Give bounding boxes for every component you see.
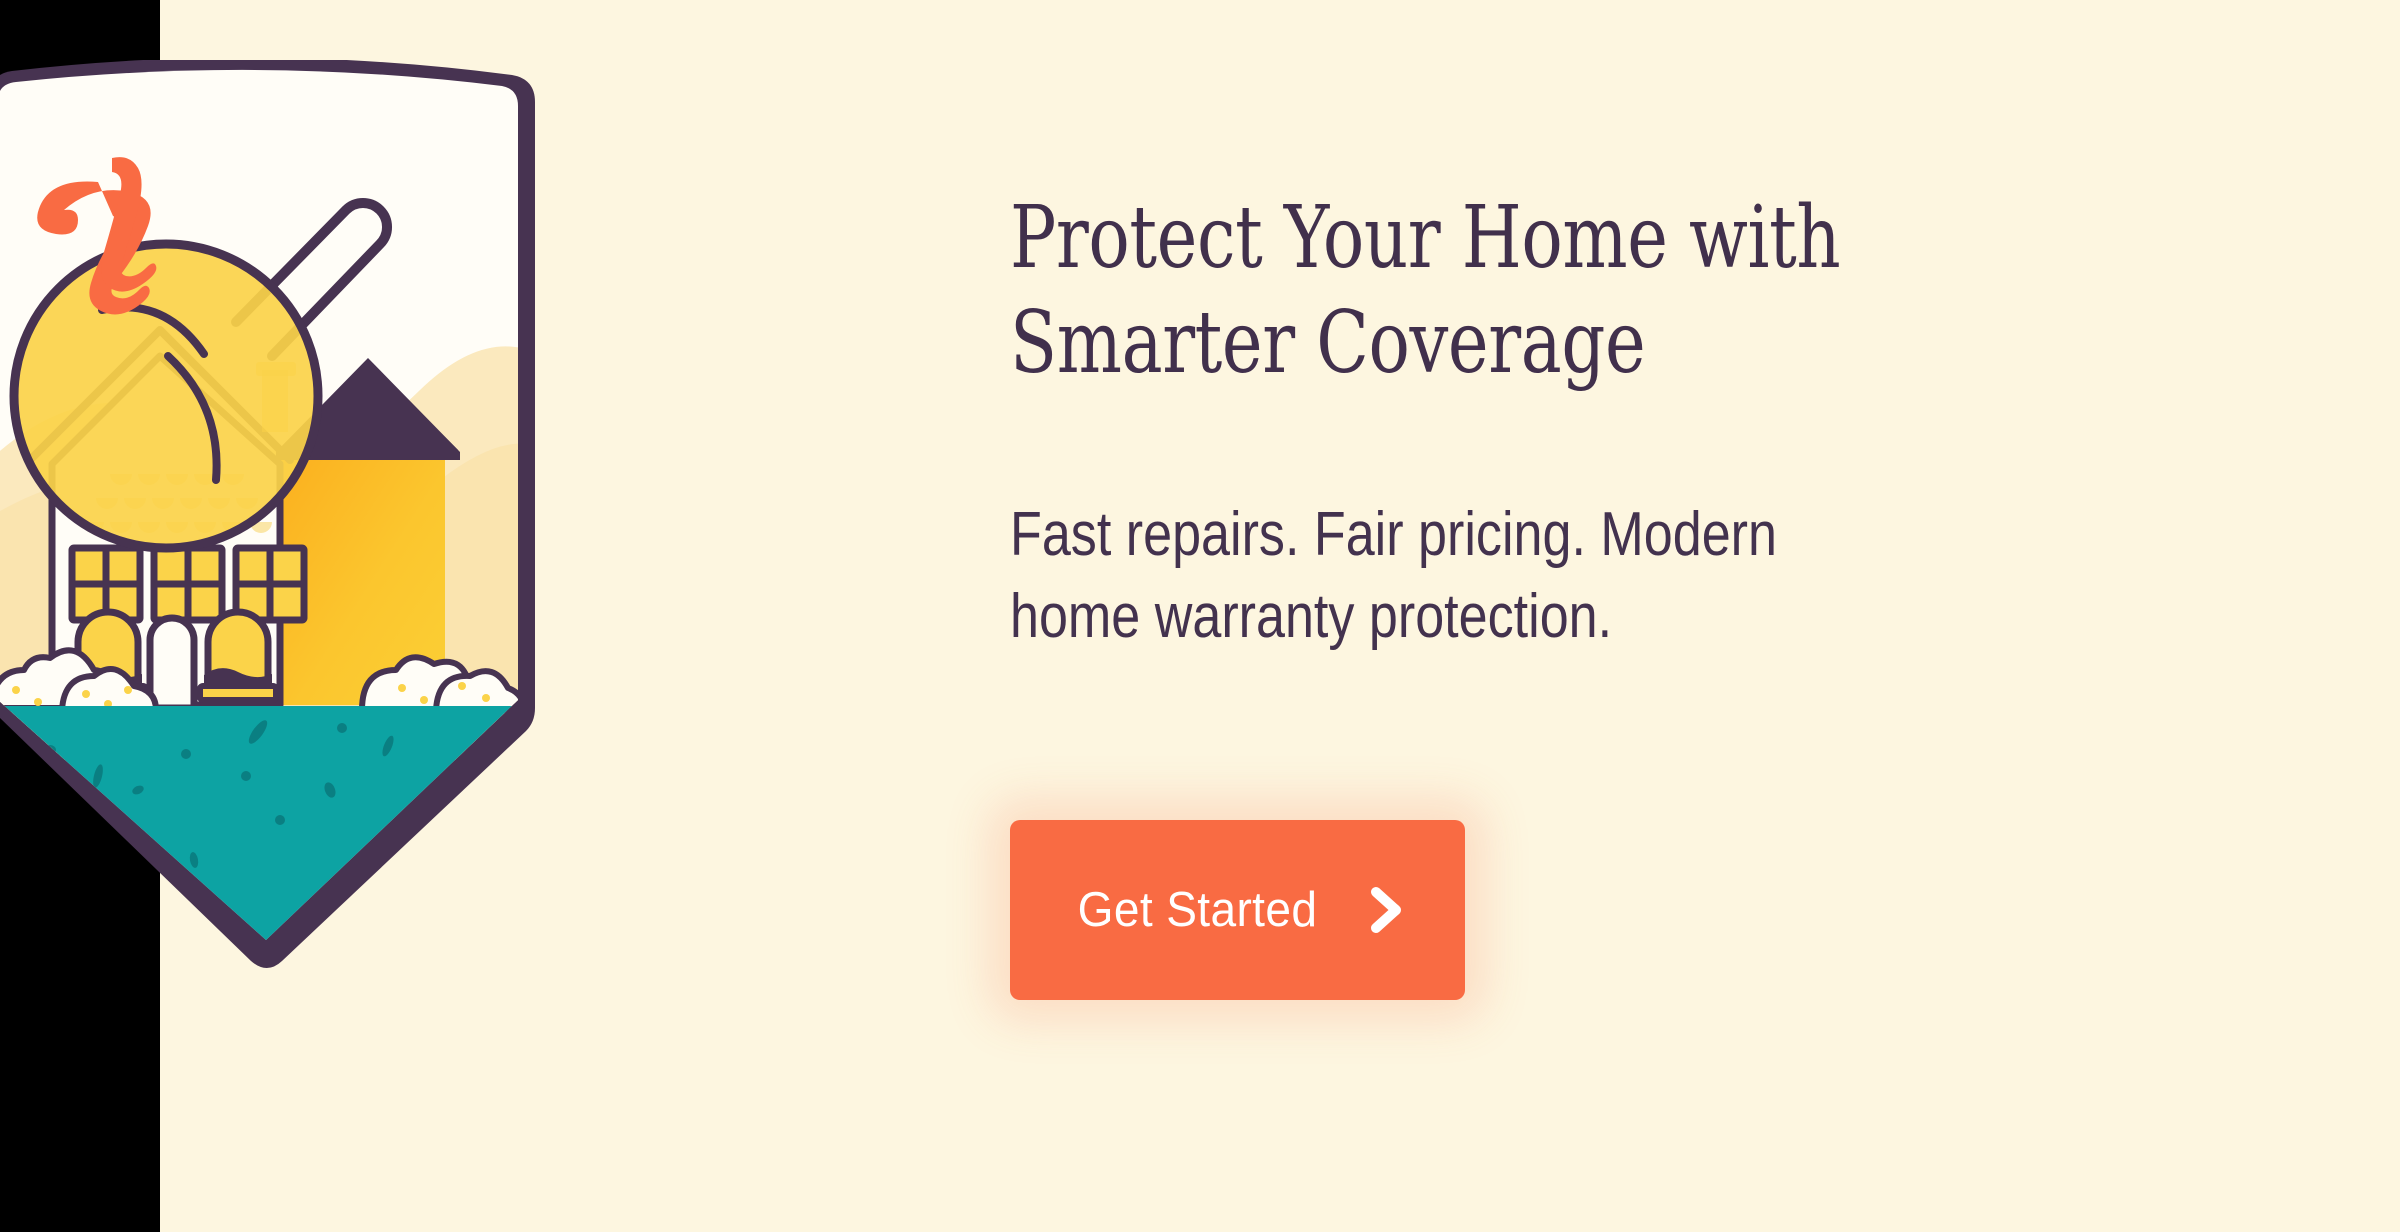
get-started-label: Get Started [1078, 882, 1318, 938]
get-started-button[interactable]: Get Started [1010, 820, 1465, 1000]
promo-banner: Protect Your Home with Smarter Coverage … [0, 0, 2400, 1232]
front-door [150, 618, 194, 708]
copy-block: Protect Your Home with Smarter Coverage … [1010, 186, 2190, 659]
home-warranty-shield-illustration [0, 60, 810, 1140]
arched-window-right [200, 612, 276, 700]
subheading: Fast repairs. Fair pricing. Modern home … [1010, 494, 2178, 659]
grass-ground [0, 706, 550, 960]
chevron-right-icon [1367, 885, 1405, 935]
cta-container: Get Started [1010, 820, 1465, 1000]
page-title: Protect Your Home with Smarter Coverage [1010, 186, 2178, 396]
